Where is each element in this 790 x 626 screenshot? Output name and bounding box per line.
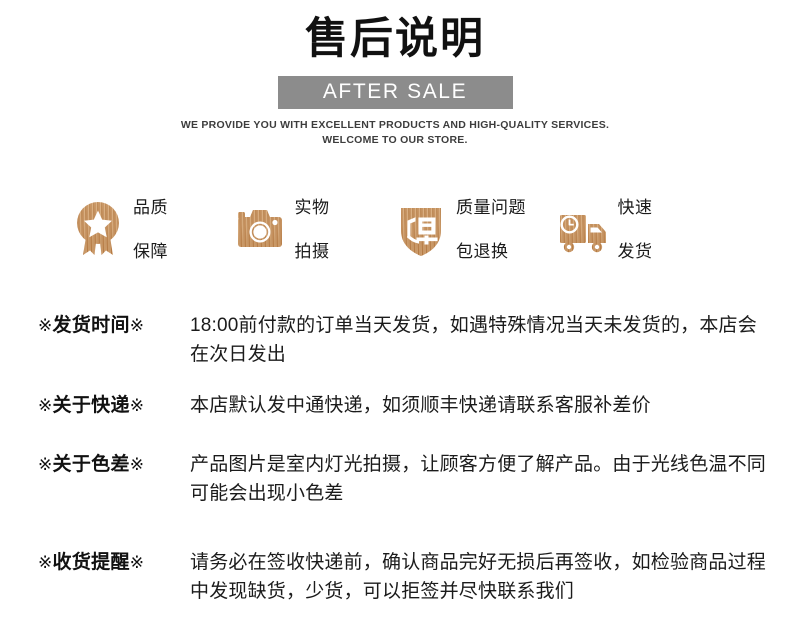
feature-label-quality: 品质 保障 bbox=[133, 174, 168, 286]
mark-left-icon: ※ bbox=[38, 553, 53, 572]
feature-quality-guarantee: 品质 保障 bbox=[72, 174, 234, 286]
feature-label-return-line1: 质量问题 bbox=[456, 197, 526, 219]
section-courier: ※关于快递※ 本店默认发中通快递，如须顺丰快递请联系客服补差价 bbox=[38, 392, 770, 421]
feature-label-shipping: 快速 发货 bbox=[618, 174, 653, 286]
section-label-shipping-time: ※发货时间※ bbox=[38, 312, 190, 341]
feature-fast-shipping: 快速 发货 bbox=[557, 174, 719, 286]
feature-label-return: 质量问题 包退换 bbox=[456, 174, 526, 286]
section-label-courier: ※关于快递※ bbox=[38, 392, 190, 421]
feature-label-quality-line2: 保障 bbox=[133, 241, 168, 263]
section-color-difference: ※关于色差※ 产品图片是室内灯光拍摄，让顾客方便了解产品。由于光线色温不同可能会… bbox=[38, 451, 770, 509]
feature-real-photo: 实物 拍摄 bbox=[234, 174, 396, 286]
header-caption: WE PROVIDE YOU WITH EXCELLENT PRODUCTS A… bbox=[0, 118, 790, 148]
feature-label-shipping-line2: 发货 bbox=[618, 241, 653, 263]
section-shipping-time: ※发货时间※ 18:00前付款的订单当天发货，如遇特殊情况当天未发货的，本店会在… bbox=[38, 312, 770, 370]
section-label-courier-text: 关于快递 bbox=[53, 395, 130, 416]
delivery-truck-clock-icon bbox=[557, 201, 609, 259]
section-label-color-difference-text: 关于色差 bbox=[53, 454, 130, 475]
mark-right-icon: ※ bbox=[130, 396, 145, 415]
section-body-color-difference: 产品图片是室内灯光拍摄，让顾客方便了解产品。由于光线色温不同可能会出现小色差 bbox=[190, 451, 770, 509]
quality-badge-star-icon bbox=[72, 201, 124, 259]
mark-left-icon: ※ bbox=[38, 455, 53, 474]
feature-row: 品质 保障 bbox=[0, 174, 790, 286]
after-sale-band: AFTER SALE bbox=[278, 76, 513, 109]
header-caption-line2: WELCOME TO OUR STORE. bbox=[0, 133, 790, 148]
mark-right-icon: ※ bbox=[130, 316, 145, 335]
section-body-courier: 本店默认发中通快递，如须顺丰快递请联系客服补差价 bbox=[190, 392, 770, 421]
page-title: 售后说明 bbox=[0, 14, 790, 65]
mark-left-icon: ※ bbox=[38, 316, 53, 335]
feature-label-return-line2: 包退换 bbox=[456, 241, 526, 263]
section-label-color-difference: ※关于色差※ bbox=[38, 451, 190, 480]
mark-right-icon: ※ bbox=[130, 455, 145, 474]
mark-right-icon: ※ bbox=[130, 553, 145, 572]
section-label-receiving-reminder: ※收货提醒※ bbox=[38, 549, 190, 578]
after-sale-sections: ※发货时间※ 18:00前付款的订单当天发货，如遇特殊情况当天未发货的，本店会在… bbox=[0, 312, 790, 606]
section-label-shipping-time-text: 发货时间 bbox=[53, 315, 130, 336]
feature-return-exchange: 质量问题 包退换 bbox=[395, 174, 557, 286]
header-caption-line1: WE PROVIDE YOU WITH EXCELLENT PRODUCTS A… bbox=[0, 118, 790, 133]
after-sale-band-wrapper: AFTER SALE bbox=[0, 76, 790, 109]
camera-icon bbox=[234, 201, 286, 259]
section-body-receiving-reminder: 请务必在签收快递前，确认商品完好无损后再签收，如检验商品过程中发现缺货，少货，可… bbox=[190, 549, 770, 607]
feature-label-photo: 实物 拍摄 bbox=[295, 174, 330, 286]
section-body-shipping-time: 18:00前付款的订单当天发货，如遇特殊情况当天未发货的，本店会在次日发出 bbox=[190, 312, 770, 370]
return-shield-icon bbox=[395, 201, 447, 259]
feature-label-photo-line2: 拍摄 bbox=[295, 241, 330, 263]
page-header: 售后说明 AFTER SALE WE PROVIDE YOU WITH EXCE… bbox=[0, 0, 790, 148]
mark-left-icon: ※ bbox=[38, 396, 53, 415]
section-receiving-reminder: ※收货提醒※ 请务必在签收快递前，确认商品完好无损后再签收，如检验商品过程中发现… bbox=[38, 549, 770, 607]
feature-label-photo-line1: 实物 bbox=[295, 197, 330, 219]
feature-label-quality-line1: 品质 bbox=[133, 197, 168, 219]
section-label-receiving-reminder-text: 收货提醒 bbox=[53, 552, 130, 573]
feature-label-shipping-line1: 快速 bbox=[618, 197, 653, 219]
